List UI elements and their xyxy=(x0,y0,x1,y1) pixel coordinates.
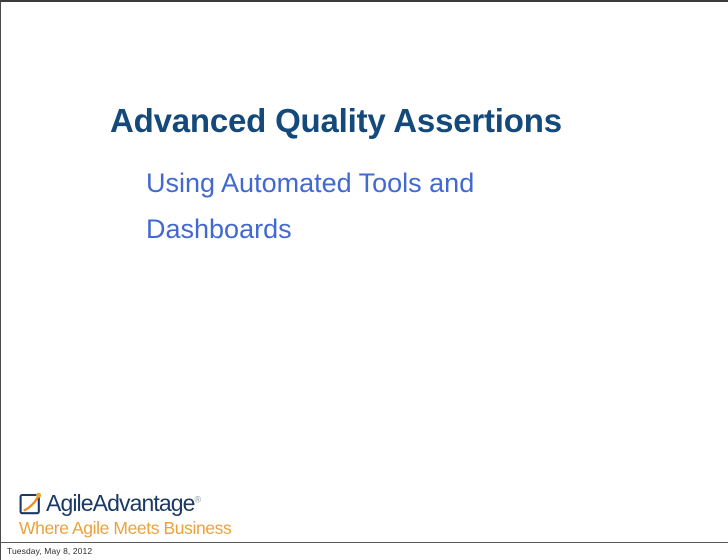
footer-divider xyxy=(1,542,728,543)
logo-wordmark-text: AgileAdvantage xyxy=(46,490,195,516)
logo-tagline: Where Agile Meets Business xyxy=(19,520,234,538)
slide-subtitle-area: Using Automated Tools and Dashboards xyxy=(146,160,616,253)
footer-date: Tuesday, May 8, 2012 xyxy=(7,546,92,556)
logo-wordmark: AgileAdvantage® xyxy=(46,492,201,515)
agile-advantage-growth-arrow-icon xyxy=(19,491,43,515)
presentation-slide: Advanced Quality Assertions Using Automa… xyxy=(0,0,728,560)
logo-trademark-symbol: ® xyxy=(195,494,202,504)
agile-advantage-logo: AgileAdvantage® Where Agile Meets Busine… xyxy=(19,488,234,542)
page-title: Advanced Quality Assertions xyxy=(110,102,670,140)
slide-subtitle: Using Automated Tools and Dashboards xyxy=(146,160,616,253)
slide-title-area: Advanced Quality Assertions xyxy=(110,102,670,140)
logo-wordmark-row: AgileAdvantage® xyxy=(19,488,234,517)
